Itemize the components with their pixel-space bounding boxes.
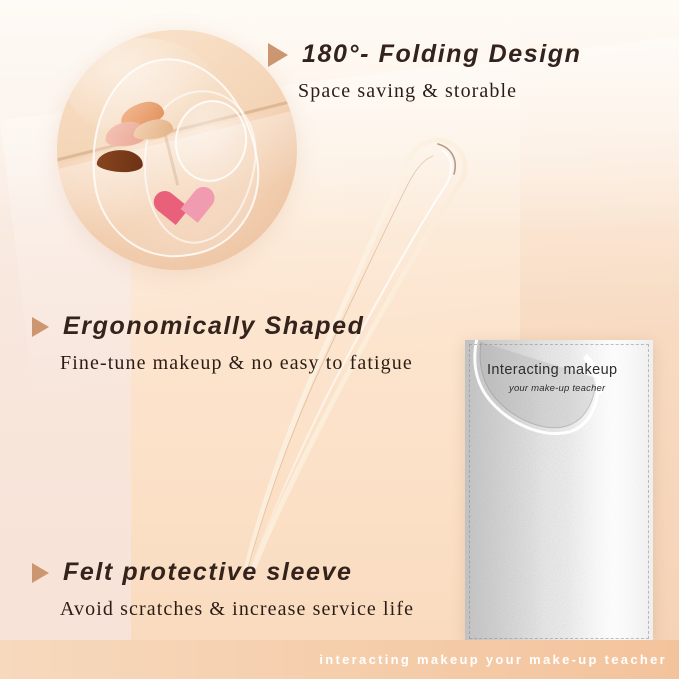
triangle-right-icon <box>268 43 288 67</box>
circular-product-inset <box>57 30 297 270</box>
feature-heading-row: Felt protective sleeve <box>32 558 414 587</box>
feature-subtitle: Avoid scratches & increase service life <box>60 598 414 621</box>
product-feature-graphic: 180°- Folding Design Space saving & stor… <box>0 0 679 679</box>
feature-folding-design: 180°- Folding Design Space saving & stor… <box>268 40 582 103</box>
pouch-stitching <box>469 344 649 639</box>
triangle-right-icon <box>32 317 49 337</box>
feature-felt-protective-sleeve: Felt protective sleeve Avoid scratches &… <box>32 558 414 621</box>
felt-storage-pouch: Interacting makeup your make-up teacher <box>465 340 653 643</box>
inset-gloss-highlight <box>67 38 217 138</box>
triangle-right-icon <box>32 563 49 583</box>
feature-title: Ergonomically Shaped <box>63 312 365 341</box>
feature-heading-row: Ergonomically Shaped <box>32 312 413 341</box>
banner-text: interacting makeup your make-up teacher <box>319 652 679 667</box>
feature-subtitle: Fine-tune makeup & no easy to fatigue <box>60 352 413 375</box>
feature-title: Felt protective sleeve <box>63 558 353 587</box>
feature-subtitle: Space saving & storable <box>298 80 582 103</box>
bottom-brand-banner: interacting makeup your make-up teacher <box>0 640 679 679</box>
feature-heading-row: 180°- Folding Design <box>268 40 582 69</box>
feature-ergonomically-shaped: Ergonomically Shaped Fine-tune makeup & … <box>32 312 413 375</box>
heart-icon <box>161 186 209 230</box>
feature-title: 180°- Folding Design <box>302 40 582 69</box>
